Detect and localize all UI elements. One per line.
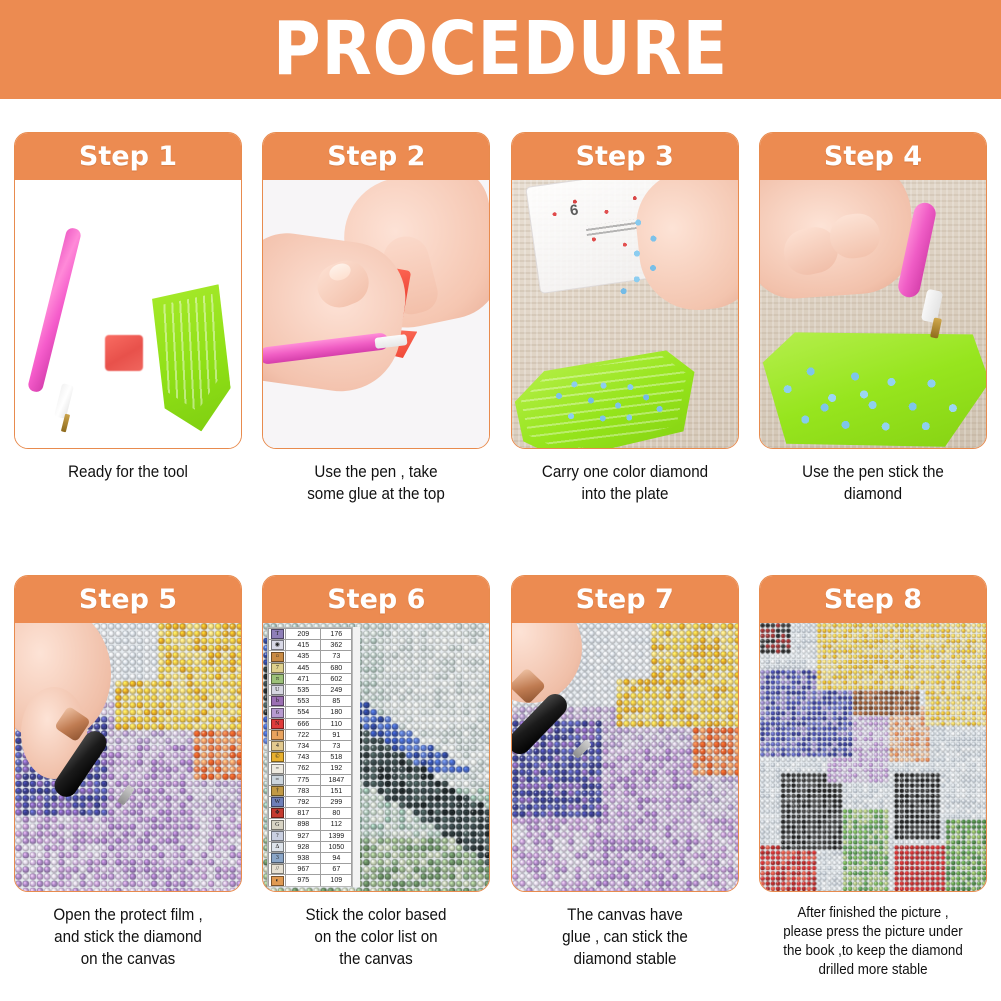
color-swatch-cell: U — [269, 685, 286, 696]
step-image-4 — [760, 180, 986, 448]
color-list-row: T209176 — [269, 629, 352, 640]
step-badge-label: Step 1 — [79, 143, 177, 170]
color-swatch: U — [271, 685, 284, 695]
color-list-row: ∆9281050 — [269, 841, 352, 852]
color-swatch-cell: // — [269, 864, 286, 875]
count-cell: 109 — [321, 875, 352, 886]
color-swatch-cell: 6 — [269, 707, 286, 718]
step-badge-label: Step 3 — [576, 143, 674, 170]
dmc-code-cell: 743 — [286, 752, 321, 763]
count-cell: 176 — [321, 629, 352, 640]
step-caption-5: Open the protect film , and stick the di… — [23, 904, 233, 970]
count-cell: 1050 — [321, 841, 352, 852]
step-badge-5: Step 5 — [15, 576, 241, 623]
count-cell: 112 — [321, 819, 352, 830]
step-badge-label: Step 2 — [327, 143, 425, 170]
dmc-code-cell: 666 — [286, 718, 321, 729]
dmc-code-cell: 734 — [286, 741, 321, 752]
step-card-5[interactable]: Step 5 — [14, 575, 242, 892]
blue-diamonds-icon — [770, 343, 975, 445]
wax-square-icon — [105, 335, 143, 371]
dmc-code-cell: 471 — [286, 673, 321, 684]
steps-row-top: Step 1 Ready for the t — [0, 132, 1001, 505]
count-cell: 180 — [321, 707, 352, 718]
color-list-row: ?9271399 — [269, 830, 352, 841]
step-card-4[interactable]: Step 4 — [759, 132, 987, 449]
step-caption-8: After finished the picture , please pres… — [768, 904, 978, 979]
color-list-row: N666110 — [269, 718, 352, 729]
count-cell: 85 — [321, 696, 352, 707]
step-badge-6: Step 6 — [263, 576, 489, 623]
color-swatch: 7 — [271, 663, 284, 673]
step-cell-7: Step 7 The ca — [511, 575, 739, 979]
dmc-code-cell: 209 — [286, 629, 321, 640]
color-list-row: ‖72291 — [269, 729, 352, 740]
color-swatch: T — [271, 629, 284, 639]
dmc-code-cell: 975 — [286, 875, 321, 886]
finished-painting-photo — [760, 623, 986, 891]
color-list-row: ¤43573 — [269, 651, 352, 662]
dmc-code-cell: 554 — [286, 707, 321, 718]
color-list-row: 7445680 — [269, 662, 352, 673]
dmc-code-cell: 792 — [286, 797, 321, 808]
photo-frame — [21, 184, 235, 442]
dmc-code-cell: 3013 — [286, 886, 321, 887]
color-swatch: 3 — [271, 853, 284, 863]
color-swatch-cell: = — [269, 763, 286, 774]
count-cell: 151 — [321, 785, 352, 796]
step-badge-1: Step 1 — [15, 133, 241, 180]
color-list: T209176◉415362¤435737445680π471602U53524… — [268, 628, 352, 887]
color-list-row: G898112 — [269, 819, 352, 830]
count-cell: 526 — [321, 886, 352, 887]
color-swatch: 4 — [271, 741, 284, 751]
color-list-row: Y3013526 — [269, 886, 352, 887]
step-caption-1: Ready for the tool — [23, 461, 233, 483]
pen-tip-icon — [54, 383, 74, 419]
dmc-code-cell: 553 — [286, 696, 321, 707]
step-badge-label: Step 6 — [327, 586, 425, 613]
color-swatch-cell: ◐ — [269, 875, 286, 886]
count-cell: 602 — [321, 673, 352, 684]
dmc-code-cell: 445 — [286, 662, 321, 673]
step-caption-2: Use the pen , take some glue at the top — [271, 461, 481, 505]
step-caption-7: The canvas have glue , can stick the dia… — [520, 904, 730, 970]
color-swatch-cell: 4 — [269, 741, 286, 752]
dmc-code-cell: 722 — [286, 729, 321, 740]
count-cell: 73 — [321, 651, 352, 662]
colorlist-photo: T209176◉415362¤435737445680π471602U53524… — [263, 623, 489, 891]
dmc-code-cell: 928 — [286, 841, 321, 852]
step-cell-6: Step 6 T209176◉415362¤435737445680π47160… — [262, 575, 490, 979]
step-cell-1: Step 1 Ready for the t — [14, 132, 242, 505]
color-swatch-cell: ¤ — [269, 651, 286, 662]
step-badge-label: Step 7 — [576, 586, 674, 613]
dmc-code-cell: 783 — [286, 785, 321, 796]
color-swatch: ❖ — [271, 808, 284, 818]
step-badge-2: Step 2 — [263, 133, 489, 180]
step-caption-4: Use the pen stick the diamond — [768, 461, 978, 505]
color-list-row: ◐975109 — [269, 875, 352, 886]
dmc-code-cell: 817 — [286, 808, 321, 819]
count-cell: 1399 — [321, 830, 352, 841]
step-cell-3: Step 3 6 — [511, 132, 739, 505]
dmc-code-cell: 898 — [286, 819, 321, 830]
chart-gutter — [353, 627, 360, 887]
color-list-table[interactable]: T209176◉415362¤435737445680π471602U53524… — [267, 627, 353, 887]
step-badge-8: Step 8 — [760, 576, 986, 623]
color-swatch-cell: Y — [269, 886, 286, 887]
tools-photo — [15, 180, 241, 448]
dmc-code-cell: 938 — [286, 853, 321, 864]
color-swatch: † — [271, 786, 284, 796]
color-list-row: b55385 — [269, 696, 352, 707]
step-image-5 — [15, 623, 241, 891]
count-cell: 1847 — [321, 774, 352, 785]
step-card-7[interactable]: Step 7 — [511, 575, 739, 892]
dmc-code-cell: 967 — [286, 864, 321, 875]
color-list-row: ≈7751847 — [269, 774, 352, 785]
color-list-row: π471602 — [269, 673, 352, 684]
color-swatch-cell: ≈ — [269, 774, 286, 785]
count-cell: 67 — [321, 864, 352, 875]
step-image-1 — [15, 180, 241, 448]
packet-number-label: 6 — [569, 202, 580, 220]
step-image-6: T209176◉415362¤435737445680π471602U53524… — [263, 623, 489, 891]
color-swatch-cell: W — [269, 797, 286, 808]
page-header-banner: PROCEDURE — [0, 0, 1001, 99]
color-list-row: 393894 — [269, 853, 352, 864]
count-cell: 362 — [321, 640, 352, 651]
page-title: PROCEDURE — [273, 12, 728, 86]
finger-icon — [21, 687, 87, 779]
color-swatch-cell: ◉ — [269, 640, 286, 651]
step-cell-2: Step 2 Use the pen , — [262, 132, 490, 505]
canvas-photo — [15, 623, 241, 891]
dmc-code-cell: 762 — [286, 763, 321, 774]
color-list-row: =762192 — [269, 763, 352, 774]
step-image-3: 6 — [512, 180, 738, 448]
step-card-8[interactable]: Step 8 — [759, 575, 987, 892]
step-image-2 — [263, 180, 489, 448]
color-swatch: ◉ — [271, 640, 284, 650]
color-swatch-cell: 7 — [269, 662, 286, 673]
color-list-row: ◉415362 — [269, 640, 352, 651]
diamond-mosaic — [760, 623, 986, 891]
color-swatch-cell: N — [269, 718, 286, 729]
dmc-code-cell: 775 — [286, 774, 321, 785]
dmc-code-cell: 415 — [286, 640, 321, 651]
color-swatch-cell: ❖ — [269, 808, 286, 819]
step-badge-label: Step 5 — [79, 586, 177, 613]
color-swatch-cell: 3 — [269, 853, 286, 864]
step-caption-6: Stick the color based on the color list … — [271, 904, 481, 970]
count-cell: 680 — [321, 662, 352, 673]
step-cell-5: Step 5 — [14, 575, 242, 979]
count-cell: 91 — [321, 729, 352, 740]
color-list-row: U535249 — [269, 685, 352, 696]
count-cell: 299 — [321, 797, 352, 808]
count-cell: 110 — [321, 718, 352, 729]
color-swatch: G — [271, 820, 284, 830]
color-list-row: 6554180 — [269, 707, 352, 718]
color-swatch: ¤ — [271, 652, 284, 662]
count-cell: 192 — [321, 763, 352, 774]
pink-pen-icon — [27, 227, 82, 394]
color-list-row: W792299 — [269, 797, 352, 808]
color-swatch: ≈ — [271, 775, 284, 785]
count-cell: 73 — [321, 741, 352, 752]
pick-diamond-photo — [760, 180, 986, 448]
color-swatch-cell: G — [269, 819, 286, 830]
color-list-row: ©743518 — [269, 752, 352, 763]
steps-row-bottom: Step 5 — [0, 575, 1001, 979]
step-badge-4: Step 4 — [760, 133, 986, 180]
color-swatch-cell: T — [269, 629, 286, 640]
color-swatch: ? — [271, 831, 284, 841]
color-list-row: 473473 — [269, 741, 352, 752]
color-swatch: N — [271, 719, 284, 729]
color-list-row: //96767 — [269, 864, 352, 875]
canvas-photo — [512, 623, 738, 891]
step-badge-label: Step 4 — [824, 143, 922, 170]
step-card-1[interactable]: Step 1 — [14, 132, 242, 449]
dmc-code-cell: 535 — [286, 685, 321, 696]
color-swatch: // — [271, 864, 284, 874]
step-image-7 — [512, 623, 738, 891]
color-swatch: π — [271, 674, 284, 684]
count-cell: 80 — [321, 808, 352, 819]
pour-diamonds-photo: 6 — [512, 180, 738, 448]
step-badge-label: Step 8 — [824, 586, 922, 613]
count-cell: 94 — [321, 853, 352, 864]
step-badge-3: Step 3 — [512, 133, 738, 180]
color-swatch-cell: † — [269, 785, 286, 796]
color-swatch: 6 — [271, 708, 284, 718]
step-card-6[interactable]: Step 6 T209176◉415362¤435737445680π47160… — [262, 575, 490, 892]
color-swatch-cell: b — [269, 696, 286, 707]
color-swatch-cell: π — [269, 673, 286, 684]
color-swatch-cell: ? — [269, 830, 286, 841]
step-caption-3: Carry one color diamond into the plate — [520, 461, 730, 505]
step-cell-8: Step 8 After finished the picture , plea… — [759, 575, 987, 979]
procedure-infographic: PROCEDURE Step 1 — [0, 0, 1001, 1001]
color-swatch: © — [271, 752, 284, 762]
color-swatch-cell: ∆ — [269, 841, 286, 852]
step-card-3[interactable]: Step 3 6 — [511, 132, 739, 449]
color-swatch: b — [271, 696, 284, 706]
color-swatch: W — [271, 797, 284, 807]
color-list-row: †783151 — [269, 785, 352, 796]
color-swatch: ‖ — [271, 730, 284, 740]
color-swatch: ∆ — [271, 842, 284, 852]
dmc-code-cell: 435 — [286, 651, 321, 662]
step-cell-4: Step 4 Use the pen st — [759, 132, 987, 505]
color-swatch-cell: © — [269, 752, 286, 763]
color-swatch-cell: ‖ — [269, 729, 286, 740]
step-card-2[interactable]: Step 2 — [262, 132, 490, 449]
color-list-row: ❖81780 — [269, 808, 352, 819]
dmc-code-cell: 927 — [286, 830, 321, 841]
count-cell: 249 — [321, 685, 352, 696]
step-badge-7: Step 7 — [512, 576, 738, 623]
color-swatch: = — [271, 764, 284, 774]
count-cell: 518 — [321, 752, 352, 763]
glue-photo — [263, 180, 489, 448]
step-image-8 — [760, 623, 986, 891]
color-swatch: ◐ — [271, 876, 284, 886]
